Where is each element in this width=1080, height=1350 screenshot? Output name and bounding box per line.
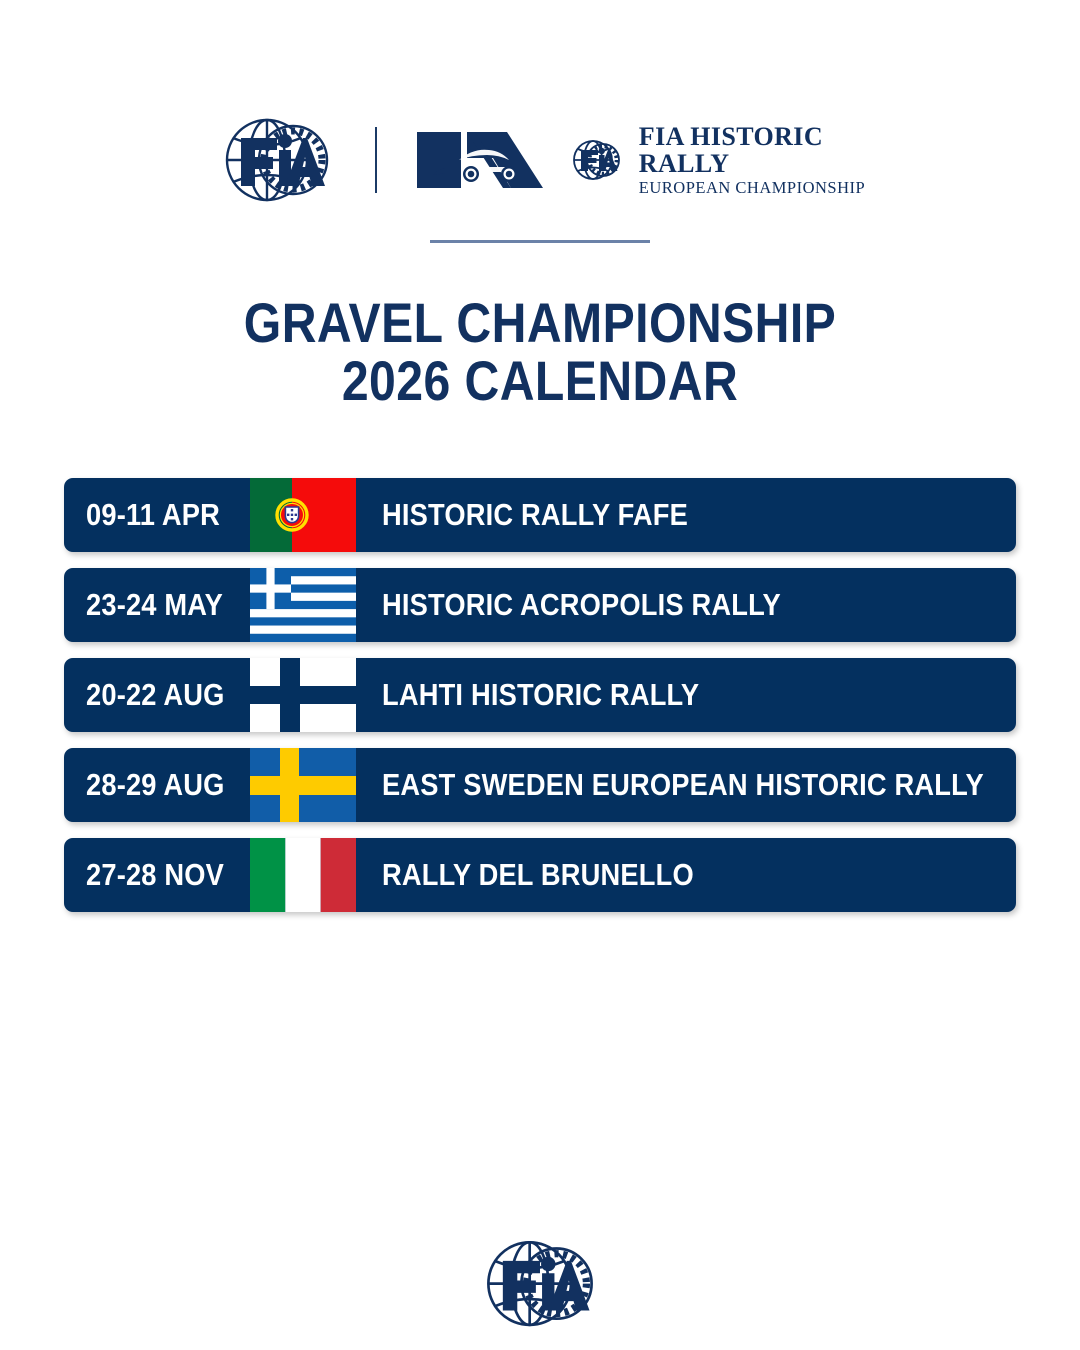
calendar-poster: FIA HISTORIC RALLY EUROPEAN CHAMPIONSHIP… — [0, 0, 1080, 1350]
finland-flag-icon — [250, 658, 356, 732]
vertical-divider-icon — [375, 127, 377, 193]
herc-wordmark: FIA HISTORIC RALLY EUROPEAN CHAMPIONSHIP — [639, 124, 865, 197]
fia-roundel-icon — [569, 135, 625, 185]
event-date: 20-22 AUG — [64, 658, 250, 732]
event-date: 28-29 AUG — [64, 748, 250, 822]
calendar-row[interactable]: 23-24 MAY HIS — [64, 568, 1016, 642]
sweden-flag-icon — [250, 748, 356, 822]
calendar-row[interactable]: 09-11 APR — [64, 478, 1016, 552]
page-title: GRAVEL CHAMPIONSHIP 2026 CALENDAR — [76, 294, 1005, 410]
header-divider-rule — [430, 240, 650, 243]
calendar-row[interactable]: 28-29 AUG EAST SWEDEN EUROPEAN HISTORIC … — [64, 748, 1016, 822]
portugal-flag-icon — [250, 478, 356, 552]
herc-line1: FIA HISTORIC — [639, 124, 865, 150]
title-line-1: GRAVEL CHAMPIONSHIP — [76, 294, 1005, 352]
event-name: LAHTI HISTORIC RALLY — [356, 658, 1016, 732]
event-date: 27-28 NOV — [64, 838, 250, 912]
event-name: HISTORIC RALLY FAFE — [356, 478, 1016, 552]
fia-globe-gear-logo-icon — [215, 110, 339, 210]
event-date: 09-11 APR — [64, 478, 250, 552]
rally-car-wedge-icon — [415, 124, 555, 196]
header-logo-bar: FIA HISTORIC RALLY EUROPEAN CHAMPIONSHIP — [0, 108, 1080, 212]
footer-logo — [0, 1232, 1080, 1336]
calendar-row[interactable]: 20-22 AUG LAHTI HISTORIC RALLY — [64, 658, 1016, 732]
calendar-list: 09-11 APR — [64, 478, 1016, 912]
calendar-row[interactable]: 27-28 NOV RALLY DEL BRUNELLO — [64, 838, 1016, 912]
event-name: EAST SWEDEN EUROPEAN HISTORIC RALLY — [356, 748, 1066, 822]
fia-globe-gear-logo-icon — [476, 1232, 604, 1336]
greece-flag-icon — [250, 568, 356, 642]
herc-series-logo: FIA HISTORIC RALLY EUROPEAN CHAMPIONSHIP — [415, 124, 865, 197]
event-name: RALLY DEL BRUNELLO — [356, 838, 1016, 912]
herc-line2: RALLY — [639, 151, 865, 177]
event-name: HISTORIC ACROPOLIS RALLY — [356, 568, 1016, 642]
herc-line3: EUROPEAN CHAMPIONSHIP — [639, 180, 865, 197]
event-date: 23-24 MAY — [64, 568, 250, 642]
italy-flag-icon — [250, 838, 356, 912]
title-line-2: 2026 CALENDAR — [76, 352, 1005, 410]
